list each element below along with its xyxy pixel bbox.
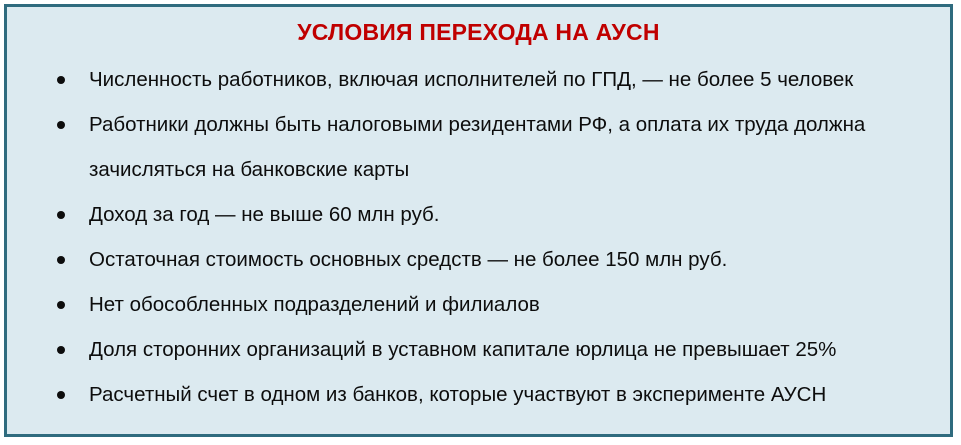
list-item: Работники должны быть налоговыми резиден…: [7, 102, 950, 192]
bullet-dot-icon: [57, 391, 65, 399]
bullet-dot-icon: [57, 76, 65, 84]
list-item: Нет обособленных подразделений и филиало…: [7, 282, 950, 327]
list-item: Расчетный счет в одном из банков, которы…: [7, 372, 950, 417]
list-item-label: Доход за год — не выше 60 млн руб.: [89, 203, 439, 226]
list-item-label: Остаточная стоимость основных средств — …: [89, 248, 727, 271]
list-item-label: Численность работников, включая исполнит…: [89, 68, 853, 91]
list-item-label: Расчетный счет в одном из банков, которы…: [89, 383, 826, 406]
bullet-dot-icon: [57, 211, 65, 219]
list-item: Численность работников, включая исполнит…: [7, 57, 950, 102]
list-item-label: Доля сторонних организаций в уставном ка…: [89, 338, 836, 361]
list-item: Остаточная стоимость основных средств — …: [7, 237, 950, 282]
list-item: Доход за год — не выше 60 млн руб.: [7, 192, 950, 237]
bullet-dot-icon: [57, 346, 65, 354]
list-item-label: Работники должны быть налоговыми резиден…: [89, 113, 865, 181]
list-item: Доля сторонних организаций в уставном ка…: [7, 327, 950, 372]
bullet-dot-icon: [57, 121, 65, 129]
slide-container: УСЛОВИЯ ПЕРЕХОДА НА АУСН Численность раб…: [4, 4, 953, 437]
bullet-dot-icon: [57, 256, 65, 264]
bullet-dot-icon: [57, 301, 65, 309]
list-item-label: Нет обособленных подразделений и филиало…: [89, 293, 540, 316]
conditions-list: Численность работников, включая исполнит…: [7, 57, 950, 417]
page-title: УСЛОВИЯ ПЕРЕХОДА НА АУСН: [7, 7, 950, 45]
